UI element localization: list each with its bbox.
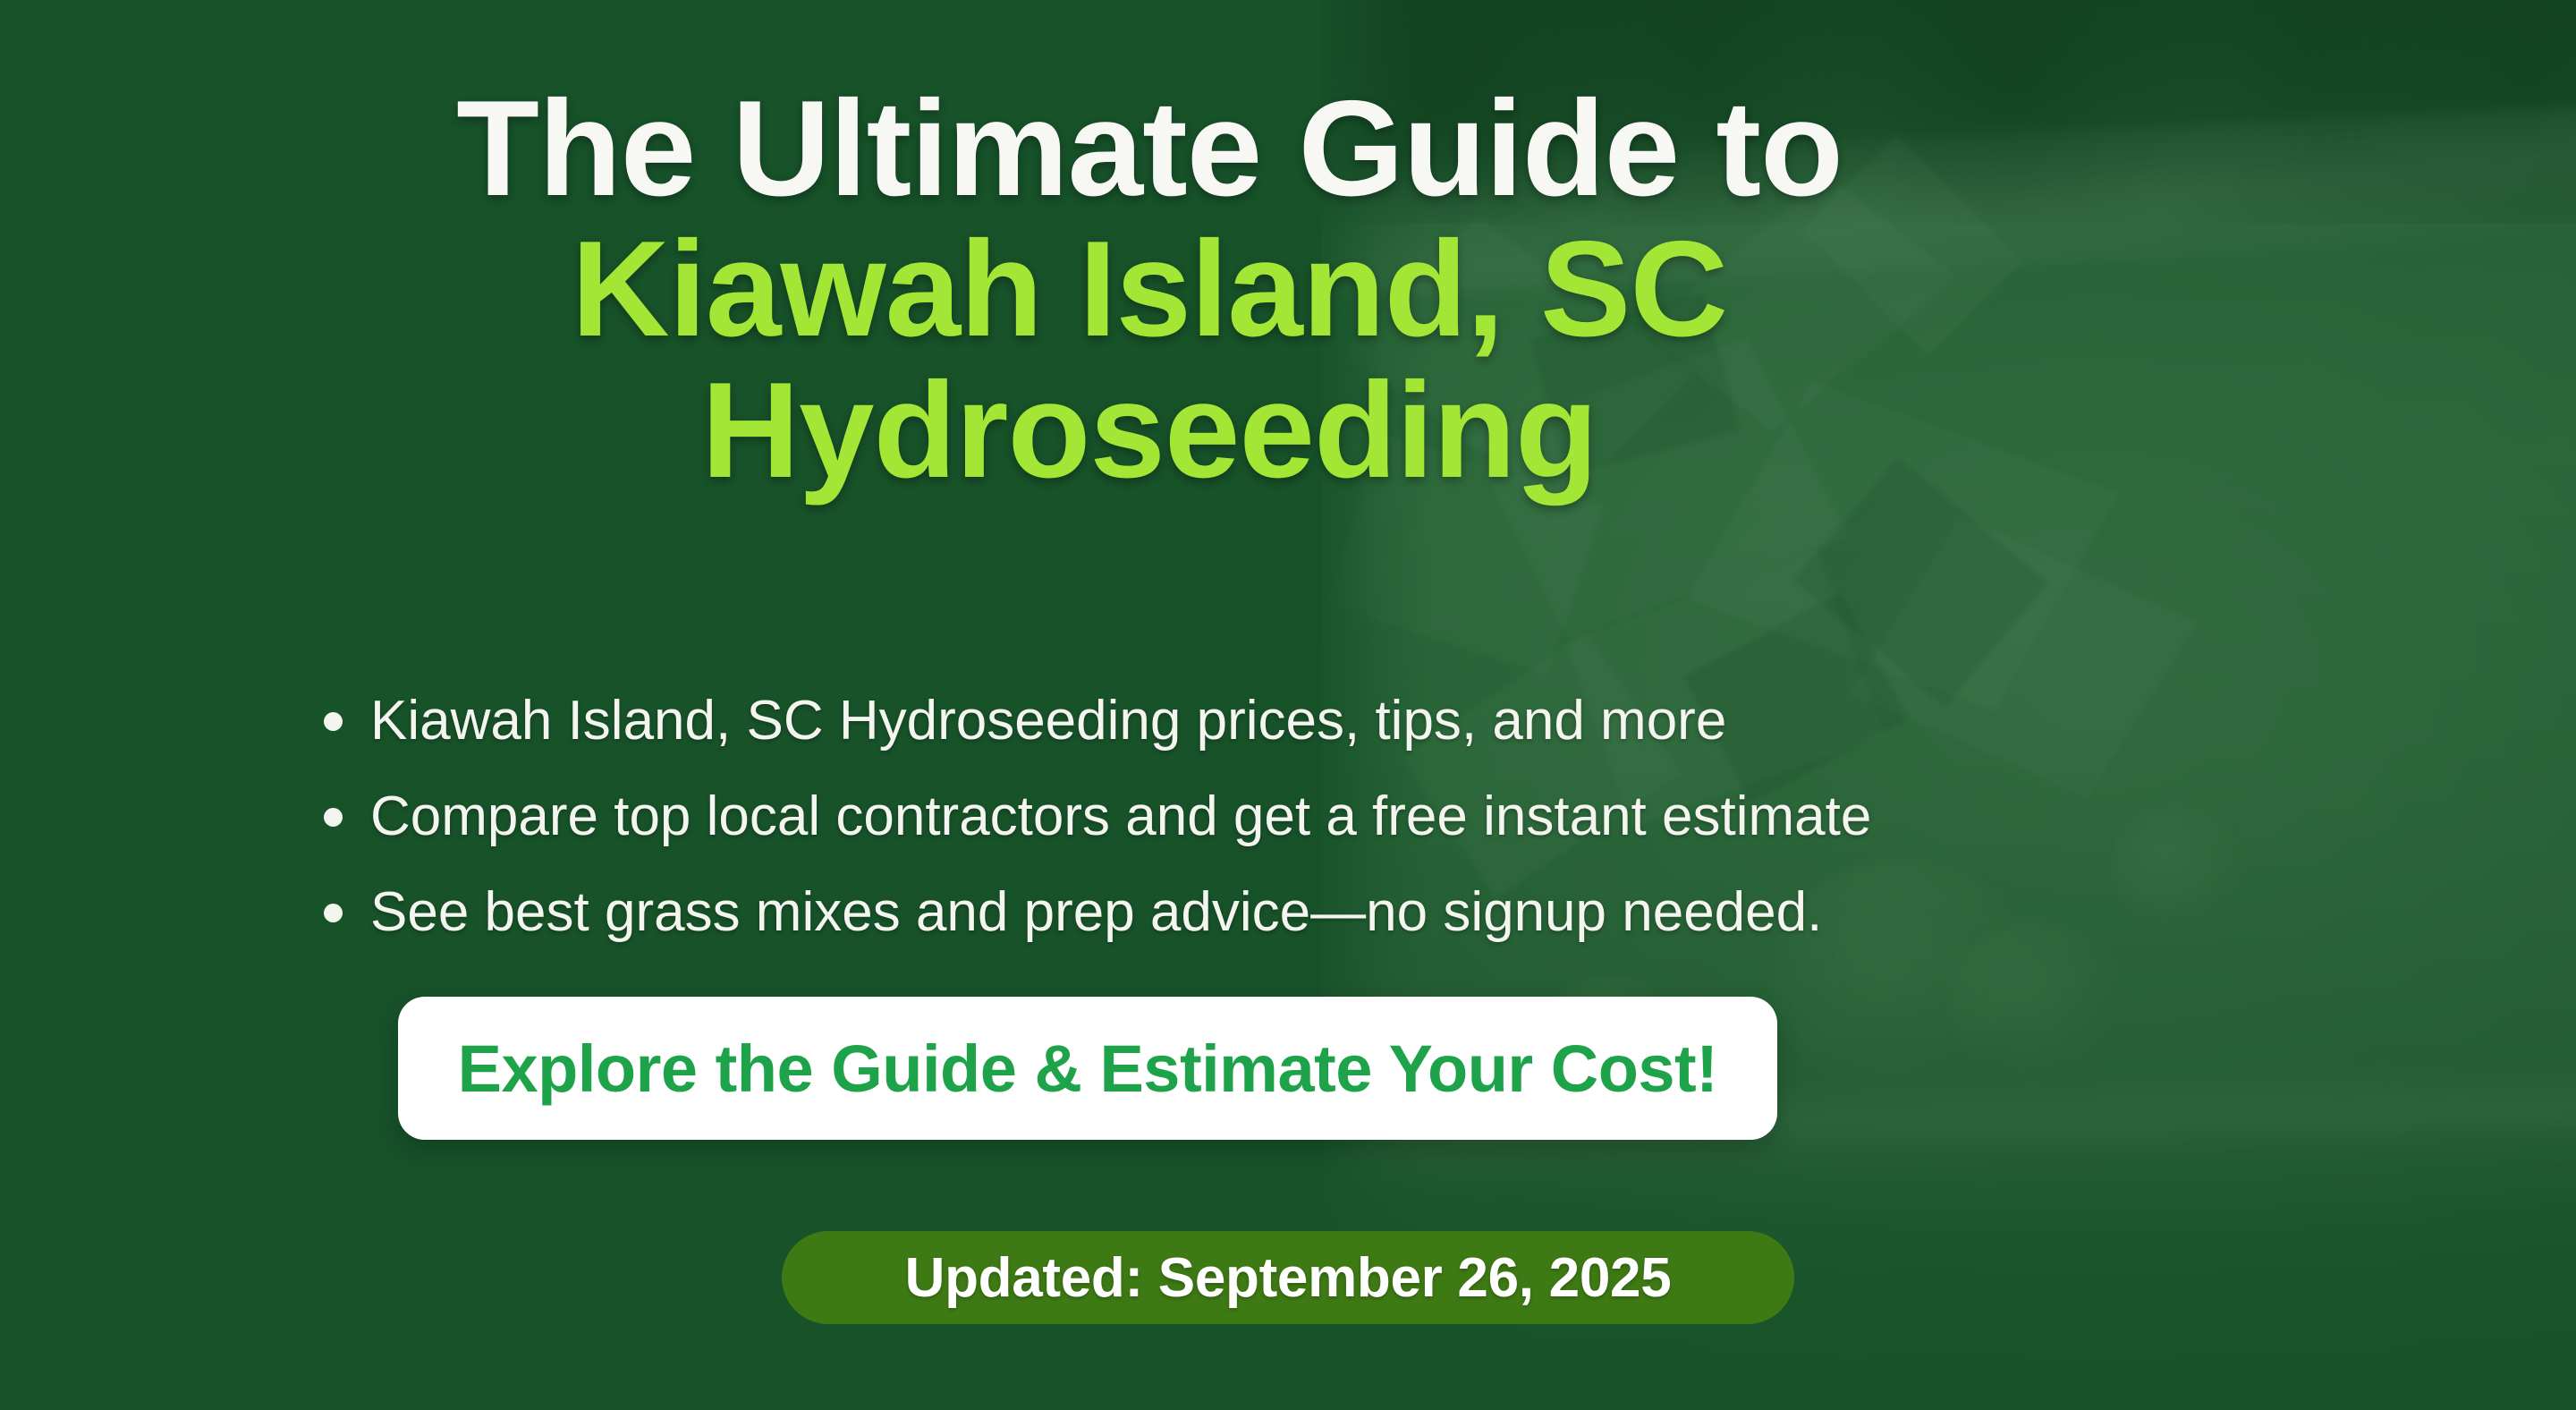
list-item-label: Kiawah Island, SC Hydroseeding prices, t… — [370, 690, 1726, 752]
headline-line-3: Hydroseeding — [0, 361, 2299, 501]
bullet-dot-icon — [324, 808, 343, 827]
bullet-dot-icon — [324, 904, 343, 922]
headline-line-2: Kiawah Island, SC — [0, 219, 2299, 360]
headline-line-1: The Ultimate Guide to — [0, 79, 2299, 219]
list-item-label: Compare top local contractors and get a … — [370, 786, 1871, 847]
list-item: Compare top local contractors and get a … — [315, 769, 1871, 864]
bullet-dot-icon — [324, 712, 343, 731]
list-item: Kiawah Island, SC Hydroseeding prices, t… — [315, 673, 1871, 769]
hero-banner: The Ultimate Guide to Kiawah Island, SC … — [0, 0, 2576, 1410]
explore-guide-cta-button[interactable]: Explore the Guide & Estimate Your Cost! — [398, 997, 1777, 1140]
banner-content: The Ultimate Guide to Kiawah Island, SC … — [0, 0, 2576, 1410]
benefits-list: Kiawah Island, SC Hydroseeding prices, t… — [315, 673, 1871, 960]
last-updated-badge: Updated: September 26, 2025 — [782, 1231, 1794, 1324]
last-updated-label: Updated: September 26, 2025 — [905, 1246, 1672, 1310]
list-item: See best grass mixes and prep advice—no … — [315, 864, 1871, 960]
list-item-label: See best grass mixes and prep advice—no … — [370, 881, 1822, 943]
page-title: The Ultimate Guide to Kiawah Island, SC … — [0, 79, 2299, 501]
